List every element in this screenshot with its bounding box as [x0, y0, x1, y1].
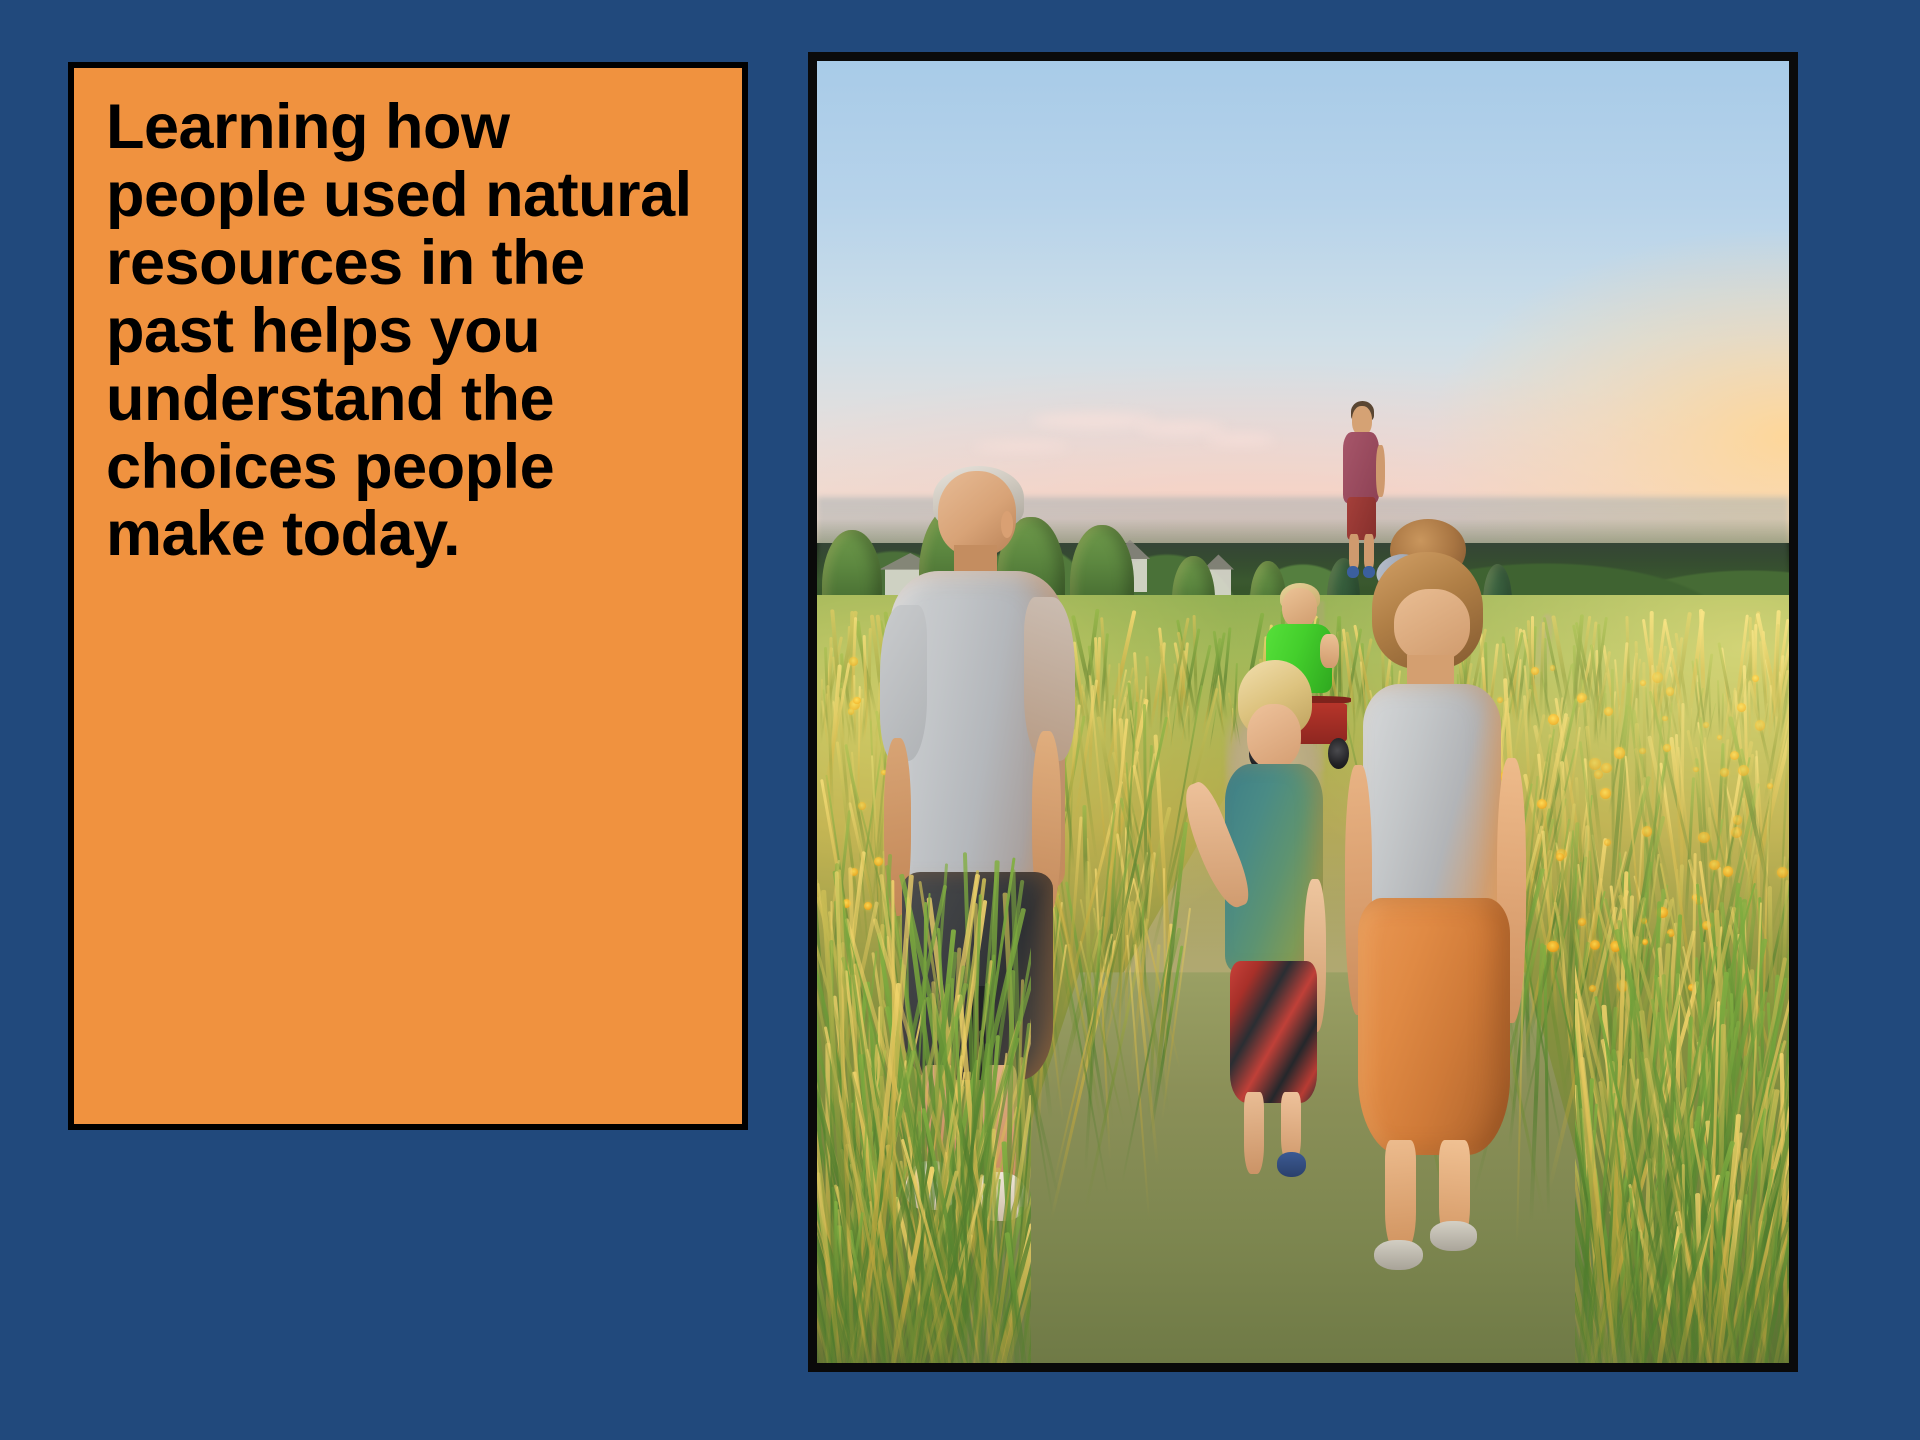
foreground-grass-left [817, 816, 1031, 1363]
slide-canvas: Learning how people used natural resourc… [0, 0, 1920, 1440]
photo-frame [808, 52, 1798, 1372]
callout-text: Learning how people used natural resourc… [106, 94, 714, 569]
foreground-grass-right [1575, 816, 1789, 1363]
prairie-family-photo [817, 61, 1789, 1363]
person-woman [1322, 530, 1546, 1266]
text-callout-card: Learning how people used natural resourc… [68, 62, 748, 1130]
